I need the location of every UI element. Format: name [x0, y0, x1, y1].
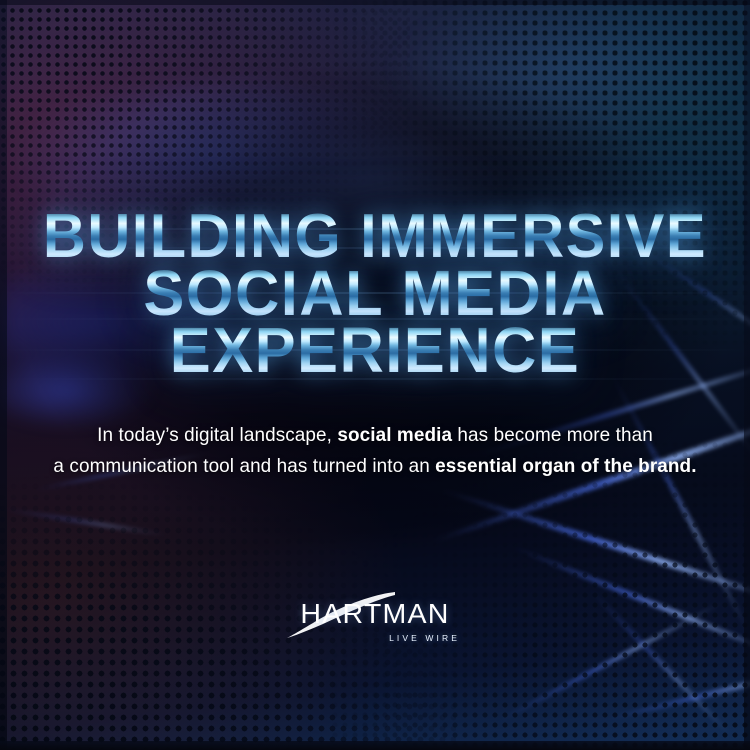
- logo-wordmark: HARTMAN: [285, 598, 465, 630]
- logo-mark: HARTMAN: [287, 598, 463, 632]
- subcopy-emphasis-essential-organ: essential organ of the brand.: [435, 455, 696, 477]
- headline-line-3: EXPERIENCE: [15, 322, 735, 379]
- brand-logo: HARTMAN LIVE WIRE: [0, 598, 750, 643]
- social-media-promo-poster: BUILDING IMMERSIVE SOCIAL MEDIA EXPERIEN…: [0, 0, 750, 750]
- subcopy-text-1c: has become more than: [452, 424, 653, 446]
- frame-bottom-edge: [0, 741, 750, 750]
- frame-left-edge: [0, 0, 7, 750]
- subcopy-emphasis-social-media: social media: [337, 424, 452, 446]
- frame-right-edge: [744, 0, 750, 750]
- subcopy-line-1: In today’s digital landscape, social med…: [11, 420, 739, 451]
- headline: BUILDING IMMERSIVE SOCIAL MEDIA EXPERIEN…: [0, 208, 750, 379]
- frame-top-edge: [0, 0, 750, 5]
- subcopy-text-1a: In today’s digital landscape,: [97, 424, 337, 446]
- subcopy-text-2a: a communication tool and has turned into…: [53, 455, 435, 477]
- subcopy-line-2: a communication tool and has turned into…: [11, 451, 739, 482]
- subcopy: In today’s digital landscape, social med…: [11, 420, 739, 482]
